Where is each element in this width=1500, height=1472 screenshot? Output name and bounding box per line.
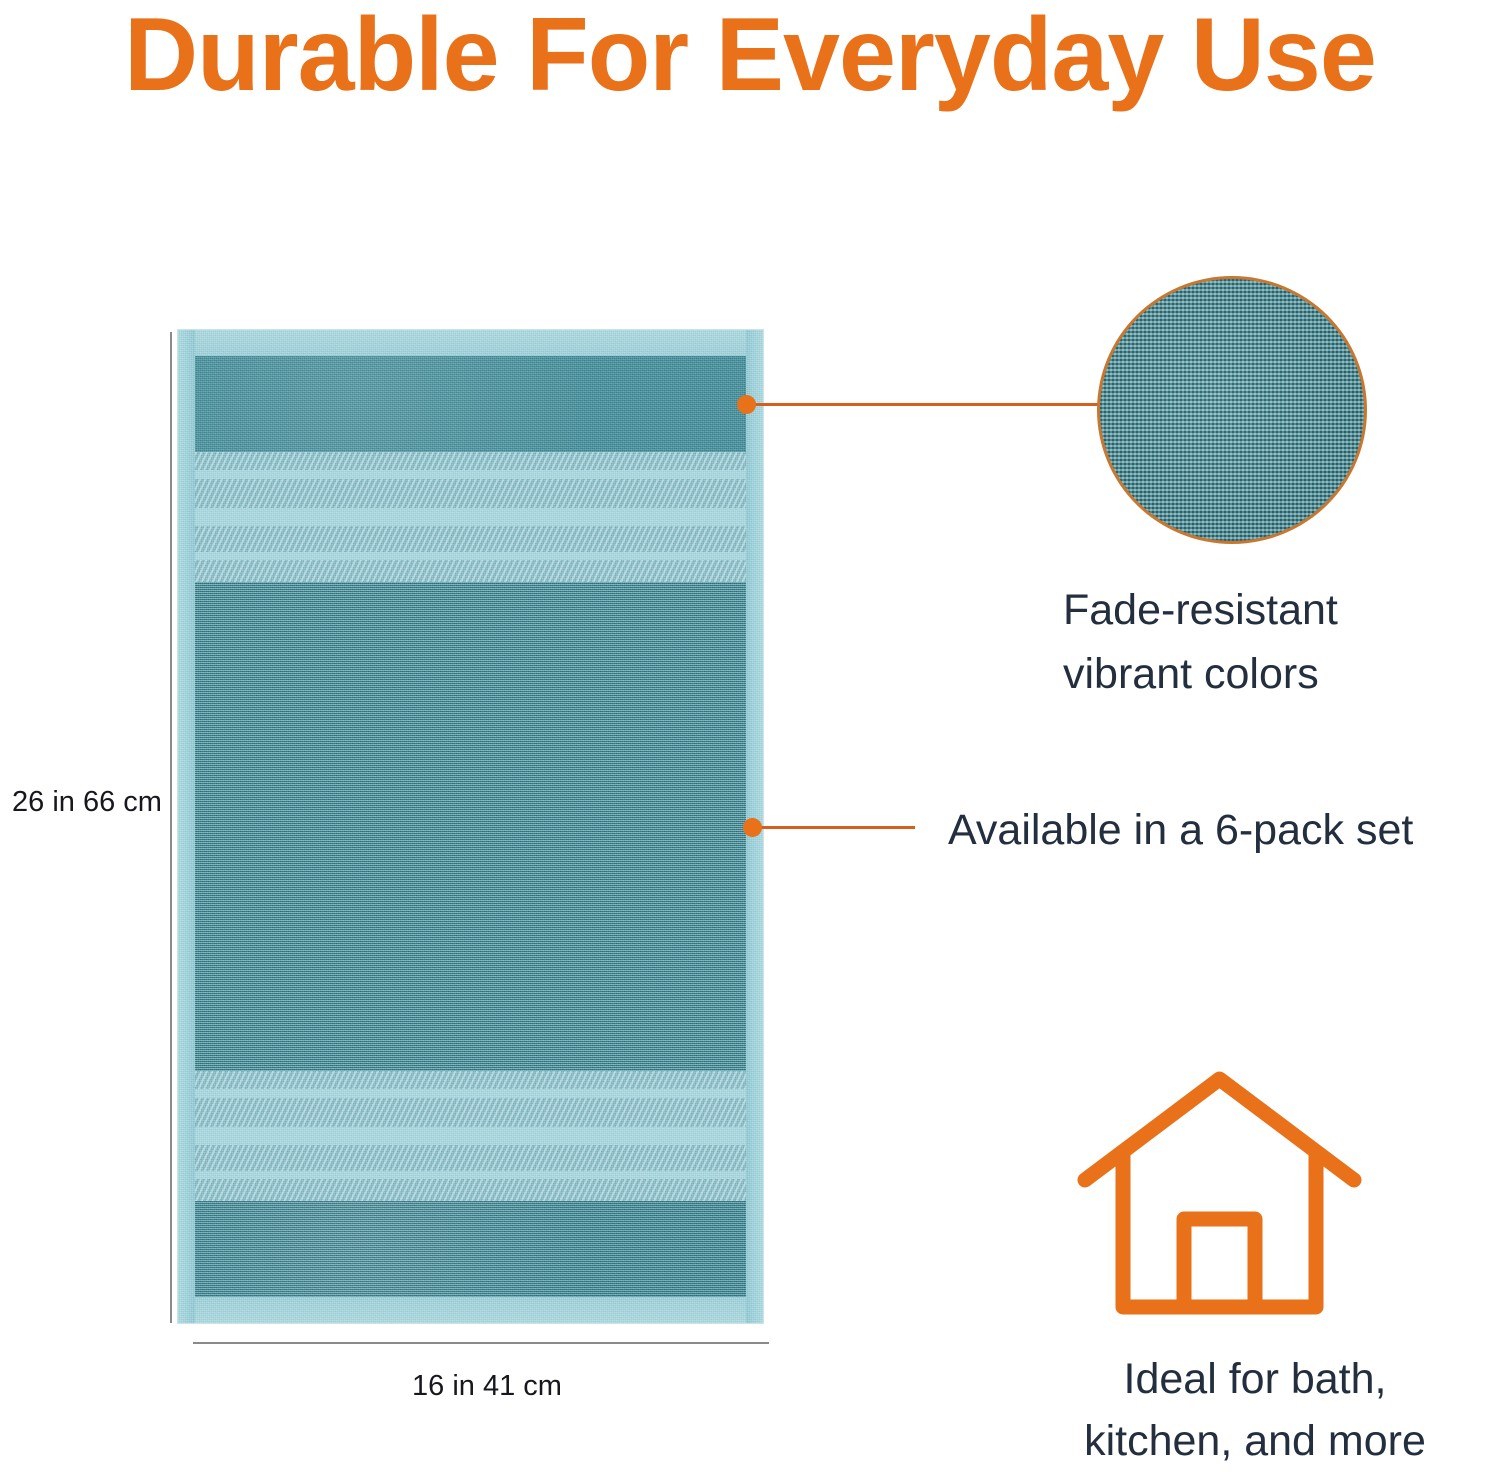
- towel-terry-panel-bottom: [195, 1201, 746, 1297]
- dobby-stripe: [195, 508, 746, 526]
- dobby-stripe: [195, 1171, 746, 1179]
- dimension-line-vertical: [170, 332, 172, 1323]
- dobby-stripe: [195, 552, 746, 560]
- towel-product-image: [178, 330, 763, 1323]
- magnified-terry-texture: [1097, 276, 1367, 544]
- dimension-label-height: 26 in 66 cm: [12, 784, 154, 820]
- infographic-canvas: Durable For Everyday Use: [0, 0, 1500, 1472]
- towel-selvedge-left: [178, 330, 195, 1323]
- callout-leader-line-1: [746, 403, 1098, 406]
- house-icon: [1077, 1068, 1362, 1318]
- towel-hem-top: [178, 330, 763, 356]
- terry-texture-top: [195, 356, 746, 452]
- dimension-line-horizontal: [193, 1342, 769, 1344]
- dobby-stripe: [195, 470, 746, 479]
- towel-terry-panel-top: [195, 356, 746, 452]
- dobby-stripe: [195, 1089, 746, 1098]
- page-title: Durable For Everyday Use: [11, 0, 1489, 114]
- callout-label-six-pack: Available in a 6-pack set: [948, 798, 1500, 862]
- terry-texture-body: [195, 582, 746, 1071]
- towel-dobby-border-bottom: [195, 1071, 746, 1201]
- feature-caption-ideal-for: Ideal for bath, kitchen, and more: [1030, 1348, 1480, 1472]
- dimension-label-width: 16 in 41 cm: [392, 1368, 582, 1404]
- callout-marker-dot-2: [743, 818, 762, 837]
- callout-marker-dot-1: [737, 395, 756, 414]
- dobby-stripe: [195, 1127, 746, 1145]
- callout-label-fade-resistant: Fade-resistant vibrant colors: [1063, 578, 1483, 706]
- callout-leader-line-2: [752, 826, 915, 829]
- terry-texture-bottom: [195, 1201, 746, 1297]
- towel-body-field: [195, 582, 746, 1071]
- towel-hem-bottom: [178, 1297, 763, 1323]
- towel-dobby-border-top: [195, 452, 746, 582]
- fabric-magnifier-circle: [1097, 276, 1367, 544]
